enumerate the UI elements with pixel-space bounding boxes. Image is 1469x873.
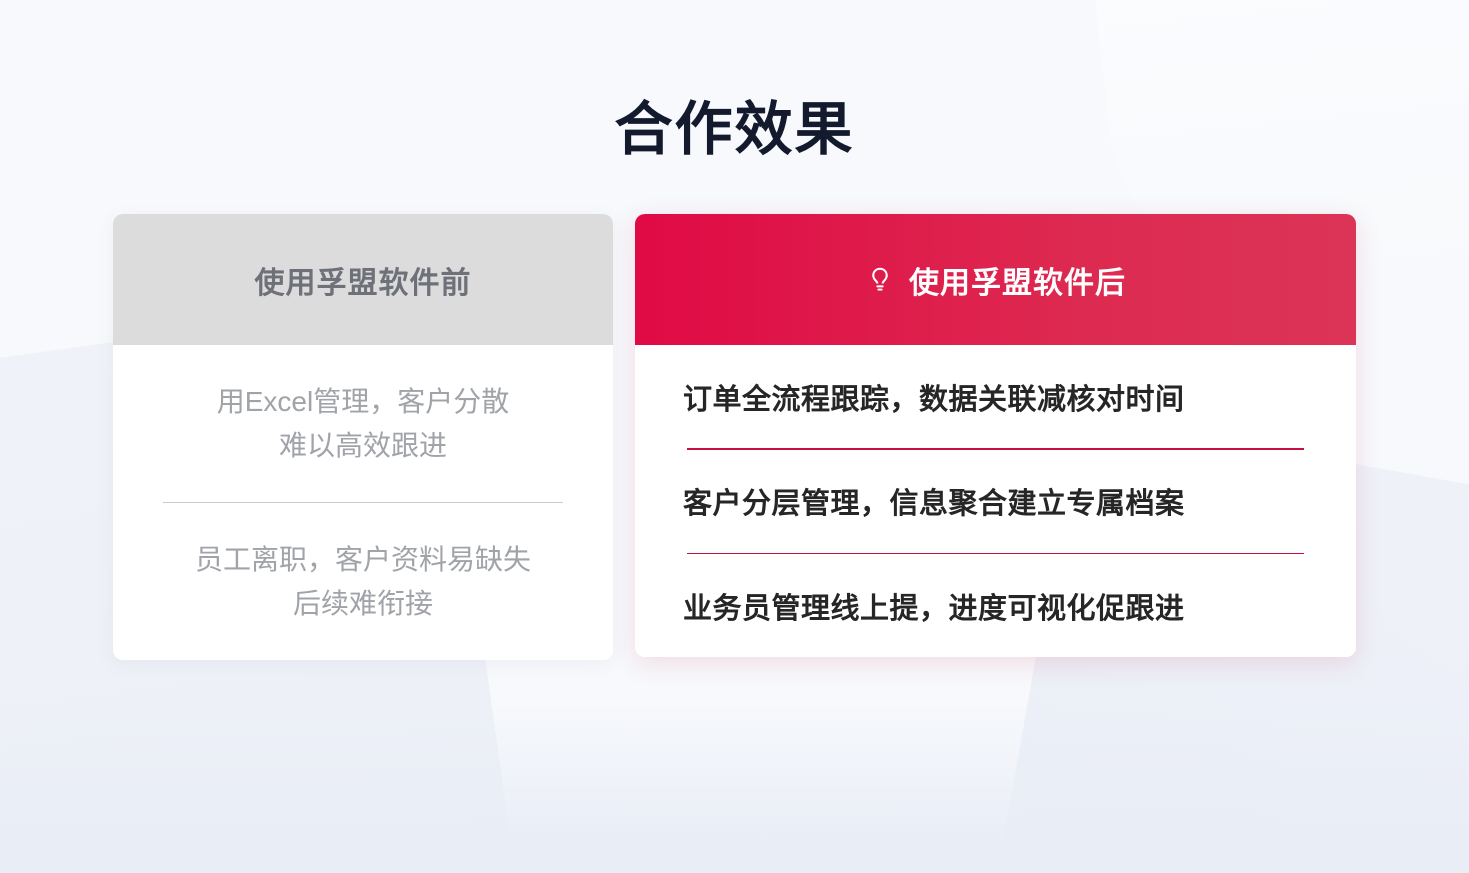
list-item: 用Excel管理，客户分散 难以高效跟进 [149, 345, 577, 502]
item-line-2: 后续难衔接 [293, 582, 433, 625]
list-item: 客户分层管理，信息聚合建立专属档案 [683, 450, 1308, 553]
lightbulb-icon [865, 263, 895, 297]
item-text: 订单全流程跟踪，数据关联减核对时间 [683, 376, 1185, 418]
list-item: 业务员管理线上提，进度可视化促跟进 [683, 554, 1308, 657]
card-after-body: 订单全流程跟踪，数据关联减核对时间 客户分层管理，信息聚合建立专属档案 业务员管… [635, 345, 1356, 657]
card-after-header-label: 使用孚盟软件后 [909, 258, 1126, 302]
item-text: 业务员管理线上提，进度可视化促跟进 [683, 585, 1185, 627]
card-after: 使用孚盟软件后 订单全流程跟踪，数据关联减核对时间 客户分层管理，信息聚合建立专… [635, 214, 1356, 657]
card-before-header-label: 使用孚盟软件前 [255, 258, 472, 302]
card-before: 使用孚盟软件前 用Excel管理，客户分散 难以高效跟进 员工离职，客户资料易缺… [113, 214, 613, 660]
comparison-section: 合作效果 使用孚盟软件前 用Excel管理，客户分散 难以高效跟进 员工离职，客… [0, 0, 1469, 873]
card-before-header: 使用孚盟软件前 [113, 214, 613, 345]
list-item: 员工离职，客户资料易缺失 后续难衔接 [149, 503, 577, 660]
item-text: 客户分层管理，信息聚合建立专属档案 [683, 480, 1185, 522]
list-item: 订单全流程跟踪，数据关联减核对时间 [683, 345, 1308, 448]
item-line-1: 用Excel管理，客户分散 [217, 380, 509, 423]
card-before-body: 用Excel管理，客户分散 难以高效跟进 员工离职，客户资料易缺失 后续难衔接 [113, 345, 613, 660]
card-after-header: 使用孚盟软件后 [635, 214, 1356, 345]
item-line-1: 员工离职，客户资料易缺失 [195, 538, 531, 581]
comparison-cards: 使用孚盟软件前 用Excel管理，客户分散 难以高效跟进 员工离职，客户资料易缺… [113, 214, 1356, 660]
item-line-2: 难以高效跟进 [279, 424, 447, 467]
page-title: 合作效果 [0, 101, 1469, 159]
